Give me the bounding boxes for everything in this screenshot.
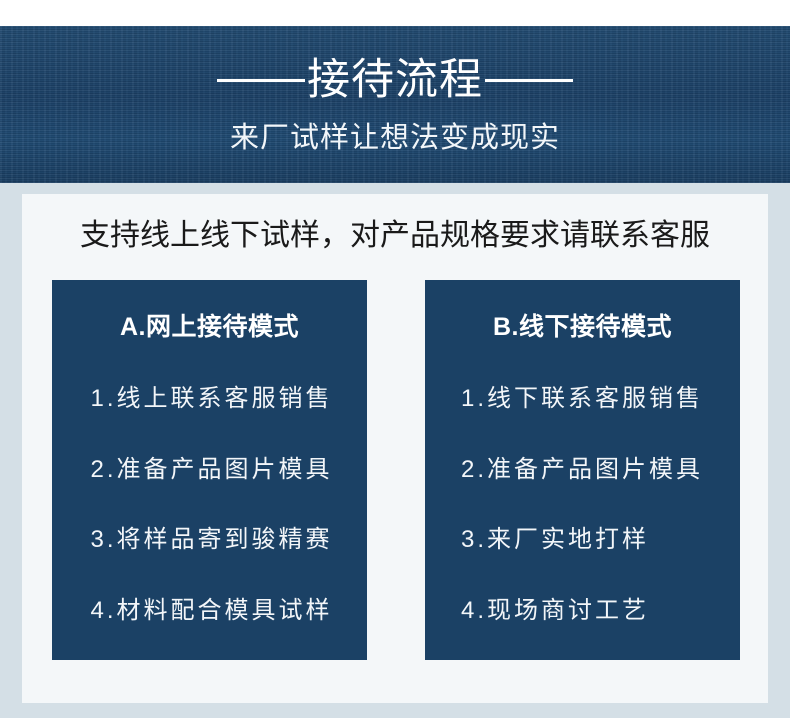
mode-card-online-steps: 1.线上联系客服销售 2.准备产品图片模具 3.将样品寄到骏精赛 4.材料配合模… [52,364,367,660]
page-subtitle: 来厂试样让想法变成现实 [230,121,560,155]
step-item: 1.线上联系客服销售 [86,384,332,414]
mode-cards-container: A.网上接待模式 1.线上联系客服销售 2.准备产品图片模具 3.将样品寄到骏精… [52,280,740,660]
step-item: 1.线下联系客服销售 [461,384,703,414]
step-item: 2.准备产品图片模具 [461,455,703,485]
mode-card-online-title: A.网上接待模式 [52,310,367,344]
reception-process-page: 接待流程 来厂试样让想法变成现实 支持线上线下试样，对产品规格要求请联系客服 A… [0,0,790,718]
title-rule-left-decoration [217,79,305,82]
mode-card-offline: B.线下接待模式 1.线下联系客服销售 2.准备产品图片模具 3.来厂实地打样 … [425,280,740,660]
step-item: 4.材料配合模具试样 [86,596,332,626]
header-banner-content: 接待流程 来厂试样让想法变成现实 [0,26,790,183]
content-background: 支持线上线下试样，对产品规格要求请联系客服 A.网上接待模式 1.线上联系客服销… [0,183,790,718]
banner-title-row: 接待流程 [217,52,573,108]
mode-card-offline-steps: 1.线下联系客服销售 2.准备产品图片模具 3.来厂实地打样 4.现场商讨工艺 [425,364,740,660]
header-banner: 接待流程 来厂试样让想法变成现实 [0,26,790,183]
footer-strip [0,703,790,718]
step-item: 3.将样品寄到骏精赛 [86,525,332,555]
step-item: 3.来厂实地打样 [461,525,649,555]
step-item: 4.现场商讨工艺 [461,596,649,626]
step-item: 2.准备产品图片模具 [86,455,332,485]
title-rule-right-decoration [485,79,573,82]
mode-card-online: A.网上接待模式 1.线上联系客服销售 2.准备产品图片模具 3.将样品寄到骏精… [52,280,367,660]
panel-heading: 支持线上线下试样，对产品规格要求请联系客服 [22,216,768,256]
content-panel: 支持线上线下试样，对产品规格要求请联系客服 A.网上接待模式 1.线上联系客服销… [22,194,768,703]
mode-card-offline-title: B.线下接待模式 [425,310,740,344]
page-title: 接待流程 [305,55,485,105]
